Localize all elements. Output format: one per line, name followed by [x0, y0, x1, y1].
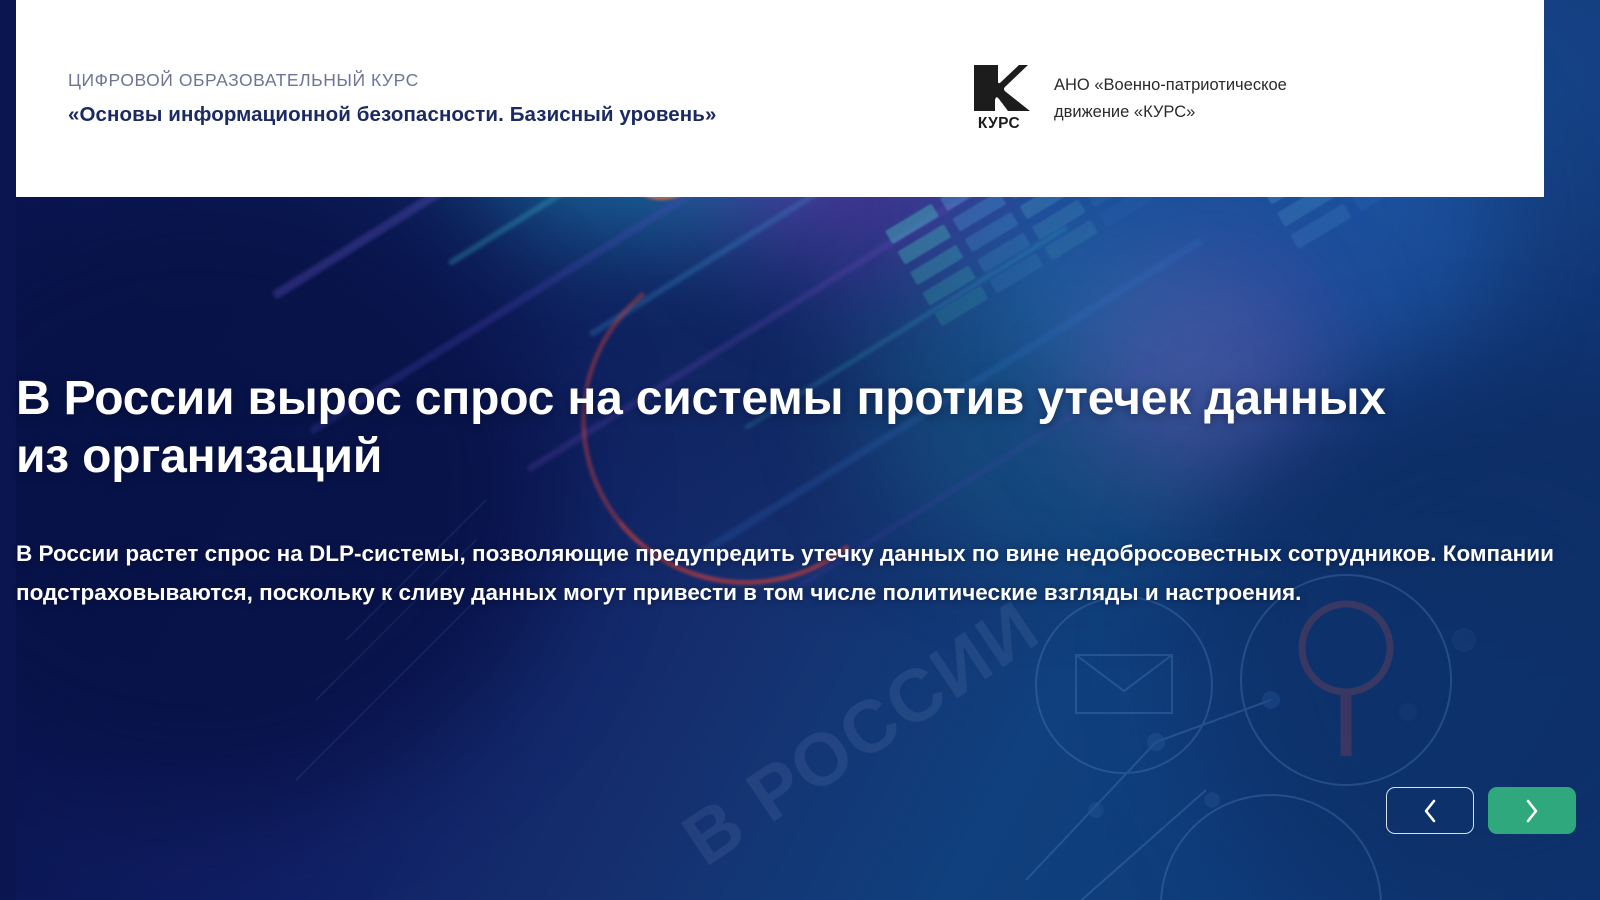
carousel-navigation [1386, 787, 1576, 834]
organization-name: АНО «Военно-патриотическое движение «КУР… [1054, 72, 1344, 125]
course-header-bar: ЦИФРОВОЙ ОБРАЗОВАТЕЛЬНЫЙ КУРС «Основы ин… [16, 0, 1544, 197]
hero-headline: В России вырос спрос на системы против у… [16, 370, 1416, 485]
kurs-wordmark: КУРС [978, 115, 1020, 133]
organization-block: КУРС АНО «Военно-патриотическое движение… [966, 63, 1544, 135]
hero-content: В России вырос спрос на системы против у… [16, 197, 1600, 900]
chevron-right-icon [1524, 798, 1540, 824]
carousel-next-button[interactable] [1488, 787, 1576, 834]
hero-lede-paragraph: В России растет спрос на DLP-системы, по… [16, 535, 1581, 612]
course-title: «Основы информационной безопасности. Баз… [68, 103, 966, 127]
carousel-prev-button[interactable] [1386, 787, 1474, 834]
slide-stage: В РОССИИ ЦИФРОВОЙ ОБРАЗОВАТЕЛЬНЫЙ КУРС «… [0, 0, 1600, 900]
chevron-left-icon [1422, 798, 1438, 824]
course-eyebrow-label: ЦИФРОВОЙ ОБРАЗОВАТЕЛЬНЫЙ КУРС [68, 70, 966, 91]
kurs-logo-icon: КУРС [966, 63, 1032, 135]
kurs-k-mark-icon [968, 63, 1030, 113]
header-text-group: ЦИФРОВОЙ ОБРАЗОВАТЕЛЬНЫЙ КУРС «Основы ин… [16, 70, 966, 127]
